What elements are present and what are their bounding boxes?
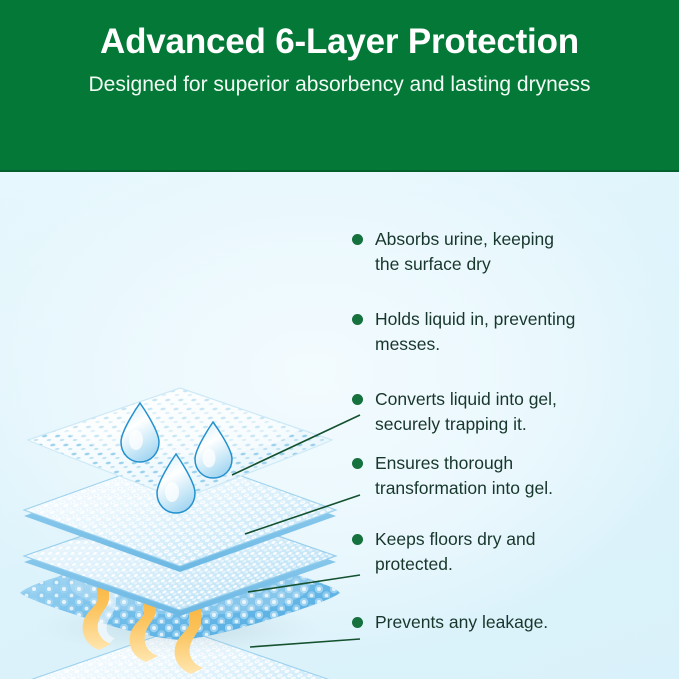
callout-item-5[interactable]: Keeps floors dry and protected. <box>352 527 536 577</box>
callout-dot-icon <box>352 394 363 405</box>
callout-dot-icon <box>352 234 363 245</box>
infographic-page: Advanced 6-Layer Protection Designed for… <box>0 0 679 679</box>
callout-label-4: Ensures thorough transformation into gel… <box>375 451 553 501</box>
callout-item-4[interactable]: Ensures thorough transformation into gel… <box>352 451 553 501</box>
callout-dot-icon <box>352 534 363 545</box>
callout-label-6: Prevents any leakage. <box>375 610 548 635</box>
callout-label-2: Holds liquid in, preventing messes. <box>375 307 575 357</box>
callout-label-3: Converts liquid into gel, securely trapp… <box>375 387 557 437</box>
callout-item-2[interactable]: Holds liquid in, preventing messes. <box>352 307 575 357</box>
callout-label-5: Keeps floors dry and protected. <box>375 527 536 577</box>
page-title: Advanced 6-Layer Protection <box>100 22 579 61</box>
callout-dot-icon <box>352 617 363 628</box>
illustration-stage: Absorbs urine, keeping the surface dry H… <box>0 172 679 679</box>
callout-dot-icon <box>352 458 363 469</box>
callout-item-1[interactable]: Absorbs urine, keeping the surface dry <box>352 227 554 277</box>
callout-dot-icon <box>352 314 363 325</box>
layer-stack-illustration <box>0 172 360 679</box>
callout-item-3[interactable]: Converts liquid into gel, securely trapp… <box>352 387 557 437</box>
page-subtitle: Designed for superior absorbency and las… <box>89 71 591 99</box>
header-banner: Advanced 6-Layer Protection Designed for… <box>0 0 679 172</box>
callout-list: Absorbs urine, keeping the surface dry H… <box>352 172 679 679</box>
callout-label-1: Absorbs urine, keeping the surface dry <box>375 227 554 277</box>
callout-item-6[interactable]: Prevents any leakage. <box>352 610 548 635</box>
